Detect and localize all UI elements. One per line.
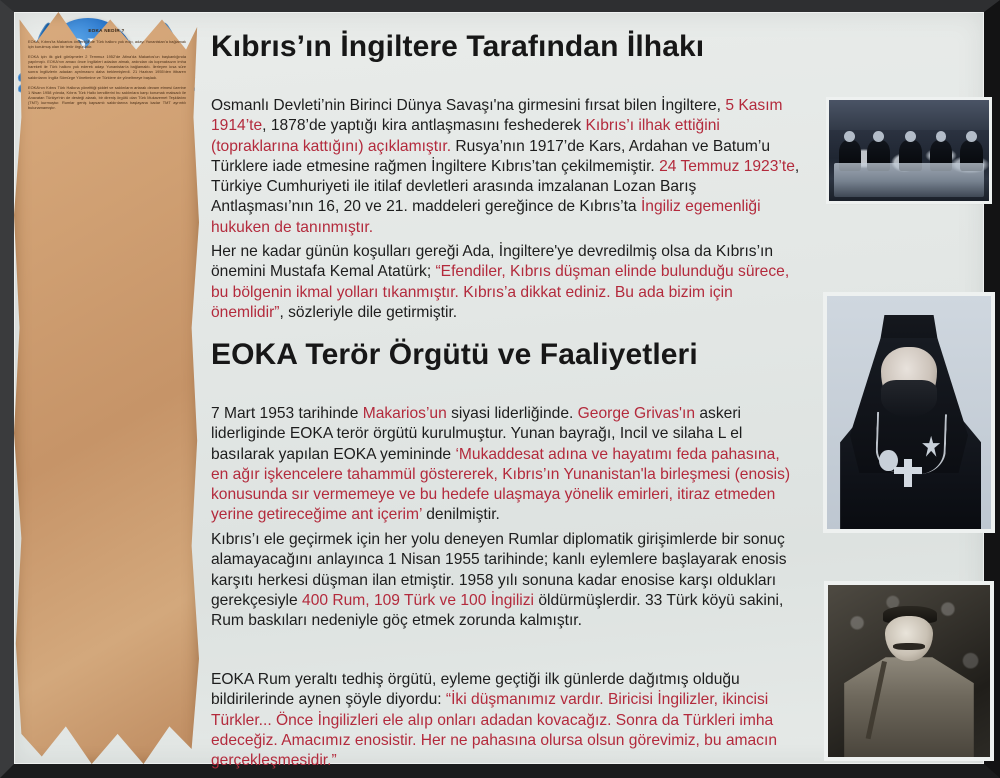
text-run-plain: siyasi liderliğinde. [447, 405, 578, 422]
makarios-portrait-photo [827, 296, 991, 529]
paragraph-eoka-2: Kıbrıs’ı ele geçirmek için her yolu dene… [211, 530, 801, 631]
text-run-accent: 400 Rum, 109 Türk ve 100 İngilizi [302, 592, 534, 609]
board-panel: K. Atatürk [14, 12, 984, 764]
text-run-plain: , sözleriyle dile getirmiştir. [279, 304, 457, 321]
paragraph-eoka-1: 7 Mart 1953 tarihinde Makarios’un siyasi… [211, 404, 801, 526]
paragraph-annexation-2: Her ne kadar günün koşulları gereği Ada,… [211, 242, 801, 323]
grivas-face [885, 616, 934, 661]
parchment-paragraph: EOKA’nın Kıbrıs Türk Halkına yönelttiği … [28, 85, 186, 110]
text-run-accent: 24 Temmuz 1923’te [659, 158, 795, 175]
grivas-moustache [893, 643, 925, 650]
paragraph-eoka-3: EOKA Rum yeraltı tedhiş örgütü, eyleme g… [211, 670, 801, 771]
eoka-parchment-document: EOKA NEDİR ? EOKA, Kıbrıs’ta Makarios ön… [14, 148, 166, 330]
right-media-column [819, 12, 984, 764]
lausanne-photo-scene [829, 100, 989, 201]
text-column: Kıbrıs’ın İngiltere Tarafından İlhakı Os… [199, 12, 819, 764]
parchment-body: EOKA, Kıbrıs’ta Makarios önderliğinde Tü… [28, 39, 186, 115]
parchment-sheet [14, 12, 199, 764]
paragraph-annexation-1: Osmanlı Devleti’nin Birinci Dünya Savaşı… [211, 96, 801, 238]
text-run-plain: , 1878’de yaptığı kira antlaşmasını fesh… [262, 117, 585, 134]
parchment-paragraph: EOKA, Kıbrıs’ta Makarios önderliğinde Tü… [28, 39, 186, 49]
left-media-column: K. Atatürk [14, 12, 199, 764]
text-run-plain: denilmiştir. [422, 506, 500, 523]
grivas-portrait-photo [828, 585, 990, 757]
parchment-paragraph: EOKA için ilk gizli görüşmeler 2 Temmuz … [28, 54, 186, 79]
lausanne-treaty-photo [829, 100, 989, 201]
text-run-accent: Makarios’un [363, 405, 447, 422]
lausanne-room-wall [829, 100, 989, 130]
information-board: K. Atatürk [0, 0, 1000, 778]
makarios-photo-scene [827, 296, 991, 529]
section-heading-eoka: EOKA Terör Örgütü ve Faaliyetleri [211, 338, 811, 371]
section-heading-annexation: Kıbrıs’ın İngiltere Tarafından İlhakı [211, 30, 811, 63]
lausanne-table [834, 163, 984, 197]
makarios-pectoral-cross [904, 459, 912, 487]
parchment-title: EOKA NEDİR ? [14, 28, 199, 33]
grivas-photo-scene [828, 585, 990, 757]
text-run-accent: George Grivas'ın [578, 405, 695, 422]
text-run-plain: Osmanlı Devleti’nin Birinci Dünya Savaşı… [211, 97, 725, 114]
text-run-plain: 7 Mart 1953 tarihinde [211, 405, 363, 422]
